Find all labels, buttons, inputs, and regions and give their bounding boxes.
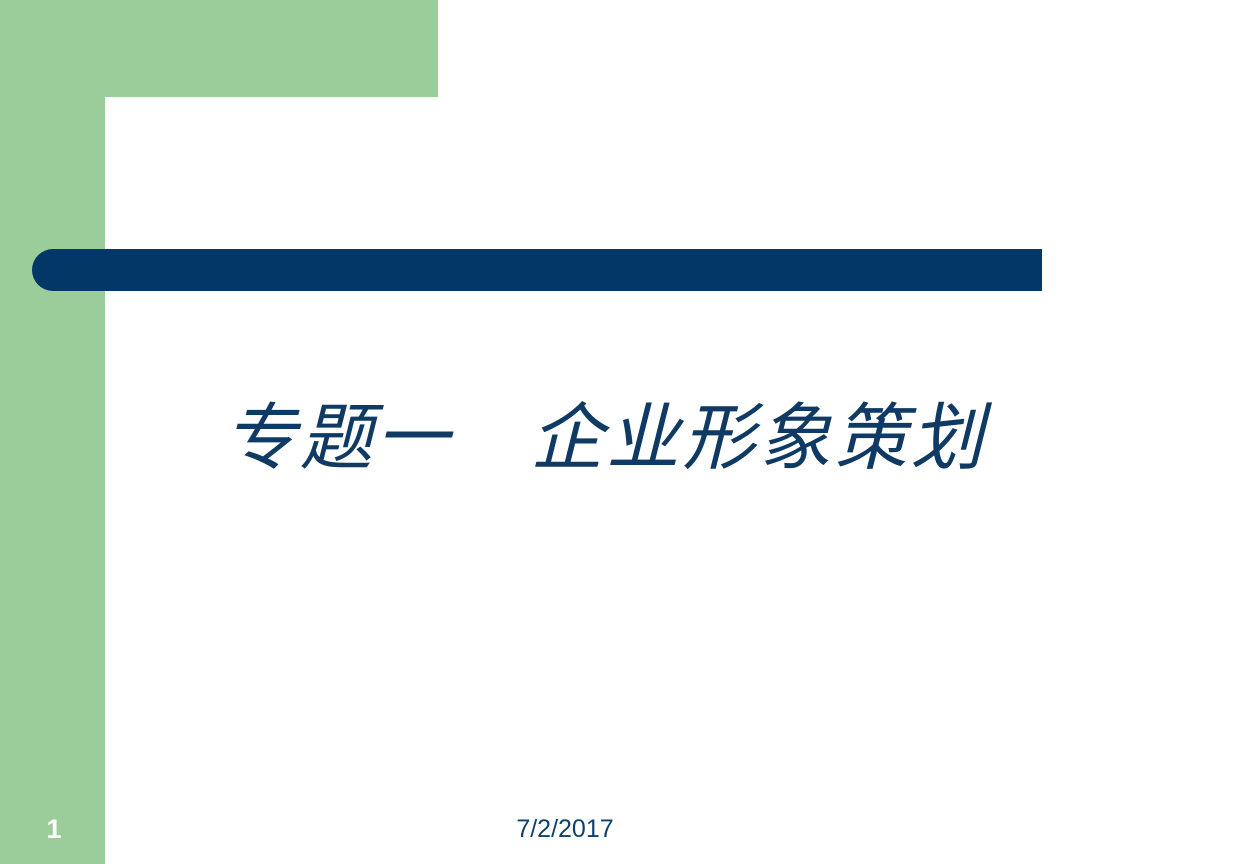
- page-title: 专题一 企业形象策划: [224, 398, 987, 480]
- rounded-corner-notch-shape: [105, 97, 185, 177]
- title-block: 专题一 企业形象策划: [105, 398, 1105, 480]
- slide-number: 1: [30, 812, 78, 846]
- green-top-bar-shape: [0, 0, 438, 97]
- slide-date: 7/2/2017: [440, 814, 690, 844]
- green-left-column-shape: [0, 0, 105, 864]
- presentation-slide: 专题一 企业形象策划 1 7/2/2017: [0, 0, 1248, 864]
- navy-pill-bar-shape: [32, 249, 1042, 291]
